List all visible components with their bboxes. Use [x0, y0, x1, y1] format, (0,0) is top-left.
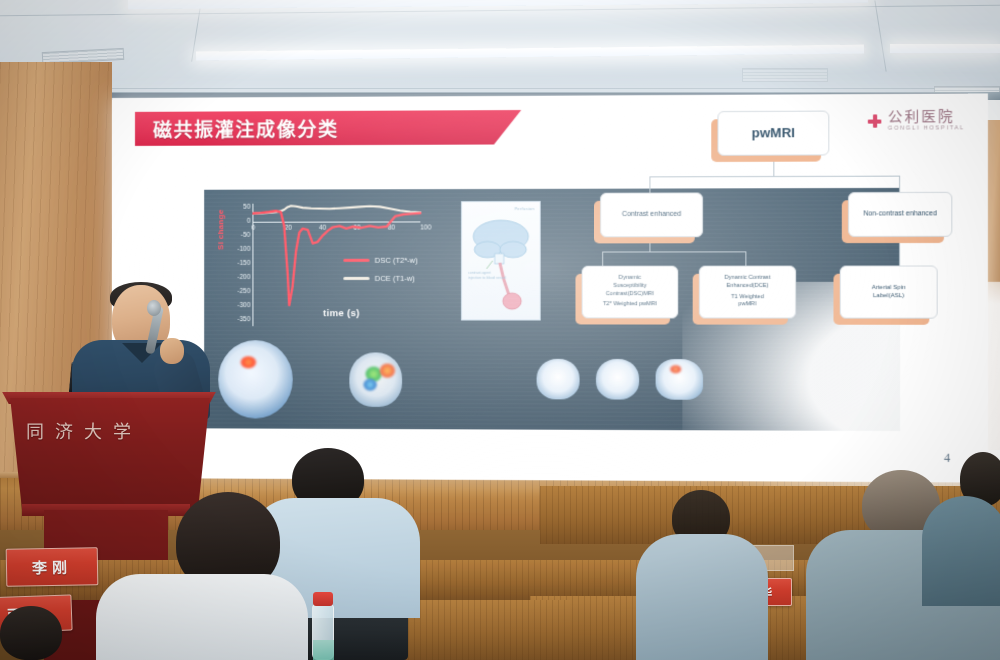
audience-body: [96, 574, 308, 660]
brain-vessel-diagram: [462, 202, 542, 321]
legend-item: DSC (T2*-w): [343, 256, 418, 265]
mri-overlay-orange: [380, 364, 395, 378]
legend-label-dce: DCE (T1-w): [375, 274, 415, 283]
bottle-label: [313, 640, 334, 660]
flowchart-leaf-dsc[interactable]: Dynamic Susceptibility Contrast(DSC)MRI …: [582, 266, 679, 319]
y-tick: -200: [237, 274, 250, 281]
leaf-line-3: T1 Weighted: [731, 294, 764, 302]
illustration-note: contrast agent injection to blood vessel: [468, 271, 506, 282]
mri-axial-brain-slice: [537, 359, 580, 400]
chart-x-axis: [252, 221, 420, 222]
connector: [899, 176, 900, 192]
perfusion-illustration-card: Perfusion contrast agent injection to bl…: [461, 201, 541, 320]
y-tick: 0: [247, 218, 251, 225]
chart-y-ticks: 50 0 -50 -100 -150 -200 -250 -300 -350: [228, 204, 250, 324]
flowchart-node-contrast-enhanced[interactable]: Contrast enhanced: [600, 192, 703, 237]
x-tick: 60: [353, 225, 360, 232]
slide-title-banner: 磁共振灌注成像分类: [135, 110, 521, 146]
mri-image-strip: [212, 338, 908, 423]
connector: [602, 252, 603, 266]
projection-screen: 磁共振灌注成像分类 公利医院 GONGLI HOSPITAL SI change…: [112, 93, 988, 482]
ceiling-panel: [742, 68, 828, 82]
mri-hotspot: [670, 365, 681, 373]
leaf-line-2: Label(ASL): [873, 292, 904, 300]
microphone-head: [147, 300, 161, 316]
audience-body: [636, 534, 768, 660]
y-tick: -300: [237, 302, 250, 309]
audience-head: [0, 606, 62, 660]
podium-engraving: 同济大学: [26, 418, 196, 444]
mri-overlay-blue: [364, 379, 377, 391]
leaf-line-1: Arterial Spin: [872, 284, 906, 292]
connector: [773, 156, 774, 176]
nameplate-ligang: 李刚: [6, 547, 99, 587]
ceiling-light: [890, 44, 1000, 53]
connector: [649, 176, 650, 192]
lecture-hall-photo: 磁共振灌注成像分类 公利医院 GONGLI HOSPITAL SI change…: [0, 0, 1000, 660]
flowchart-node-label: Non-contrast enhanced: [863, 210, 937, 220]
flowchart-leaf-dce[interactable]: Dynamic Contrast Enhanced(DCE) T1 Weight…: [699, 266, 796, 319]
chart-y-axis-label: SI change: [216, 209, 225, 250]
y-tick: -150: [237, 260, 250, 267]
podium: [6, 398, 214, 516]
mri-coronal-brain-slice: [596, 359, 639, 400]
mri-hotspot: [240, 356, 256, 368]
y-tick: -350: [237, 316, 250, 323]
chart-plot-area: [252, 197, 426, 330]
ceiling-seam: [0, 88, 1000, 89]
flowchart-node-label: Contrast enhanced: [622, 210, 681, 219]
pwmri-flowchart: pwMRI Contrast enhanced Non-contrast enh…: [588, 100, 961, 330]
x-tick: 100: [420, 224, 431, 231]
connector: [602, 251, 746, 252]
leaf-line-1: Dynamic Contrast: [724, 275, 770, 283]
connector: [649, 237, 650, 251]
leaf-line-1: Dynamic: [619, 275, 641, 283]
connector: [649, 176, 900, 178]
x-tick: 40: [319, 225, 326, 232]
chart-x-axis-label: time (s): [323, 308, 360, 319]
leaf-line-2: Susceptibility: [613, 283, 647, 291]
flowchart-root-pwmri[interactable]: pwMRI: [717, 111, 829, 156]
legend-swatch-dce: [343, 277, 369, 281]
flowchart-root-label: pwMRI: [752, 124, 795, 142]
leaf-line-2: Enhanced(DCE): [726, 283, 768, 291]
connector: [745, 251, 746, 265]
speaker-hand: [160, 338, 184, 364]
chart-y-axis: [252, 204, 253, 326]
leaf-line-4: pwMRI: [738, 301, 756, 309]
mri-axial-perfusion-map: [218, 340, 293, 418]
y-tick: -50: [241, 232, 250, 239]
series-line-dsc: [252, 211, 420, 306]
x-tick: 20: [285, 225, 292, 232]
x-tick: 80: [388, 225, 395, 232]
leaf-line-3: Contrast(DSC)MRI: [606, 291, 654, 299]
flowchart-node-non-contrast-enhanced[interactable]: Non-contrast enhanced: [848, 192, 952, 237]
nameplate-text: 李刚: [32, 556, 72, 578]
leaf-line-4: T2* Weighted pwMRI: [603, 301, 657, 309]
connector: [899, 237, 900, 266]
legend-label-dsc: DSC (T2*-w): [375, 256, 418, 265]
legend-swatch-dsc: [343, 259, 369, 263]
chart-legend: DSC (T2*-w) DCE (T1-w): [343, 256, 418, 292]
y-tick: 50: [243, 204, 250, 211]
x-tick: 0: [251, 225, 255, 232]
y-tick: -100: [237, 246, 250, 253]
series-line-dce: [252, 206, 420, 214]
bottle-cap: [313, 592, 333, 606]
illustration-title: Perfusion: [514, 206, 534, 211]
audience-body: [922, 496, 1000, 606]
perfusion-curve-chart: SI change 50 0 -50 -100 -150 -200 -250 -…: [218, 197, 451, 348]
legend-item: DCE (T1-w): [343, 274, 418, 283]
y-tick: -250: [237, 288, 250, 295]
flowchart-leaf-asl[interactable]: Arterial Spin Label(ASL): [840, 266, 938, 319]
chart-x-ticks: 0 20 40 60 80 100: [248, 224, 430, 236]
slide-title: 磁共振灌注成像分类: [135, 114, 339, 142]
slide-page-number: 4: [944, 451, 950, 466]
